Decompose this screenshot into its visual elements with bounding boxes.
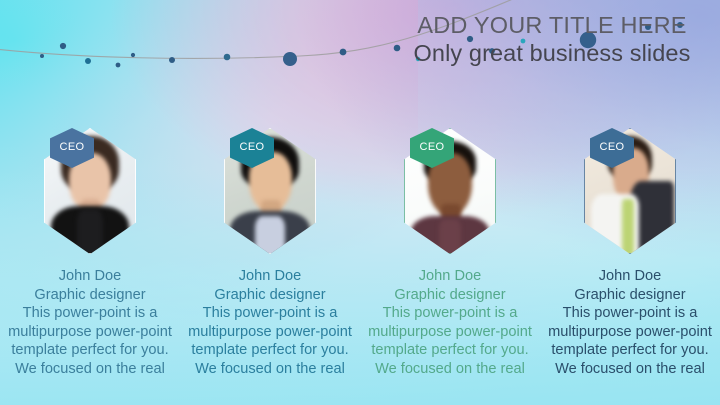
person-text-block: John Doe Graphic designer This power-poi… (541, 267, 719, 379)
badge-label: CEO (239, 142, 264, 153)
role-badge[interactable]: CEO (50, 128, 94, 168)
hexagon-photo-frame: CEO (44, 128, 136, 254)
team-card[interactable]: CEO John Doe Graphic designer This power… (180, 100, 360, 379)
badge-label: CEO (599, 142, 624, 153)
team-card[interactable]: CEO John Doe Graphic designer This power… (0, 100, 180, 379)
person-name: John Doe (541, 267, 719, 286)
role-badge[interactable]: CEO (590, 128, 634, 168)
slide-canvas: ADD YOUR TITLE HERE Only great business … (0, 0, 720, 405)
team-card[interactable]: CEO John Doe Graphic designer This power… (540, 100, 720, 379)
person-description: This power-point is a multipurpose power… (541, 304, 719, 378)
badge-hexagon-shape: CEO (590, 128, 634, 168)
team-card[interactable]: CEO John Doe Graphic designer This power… (360, 100, 540, 379)
hexagon-photo-frame: CEO (584, 128, 676, 254)
badge-label: CEO (59, 142, 84, 153)
person-name: John Doe (1, 267, 179, 286)
hexagon-photo-frame: CEO (224, 128, 316, 254)
person-name: John Doe (361, 267, 539, 286)
person-description: This power-point is a multipurpose power… (361, 304, 539, 378)
person-description: This power-point is a multipurpose power… (1, 304, 179, 378)
person-text-block: John Doe Graphic designer This power-poi… (181, 267, 359, 379)
person-role: Graphic designer (181, 286, 359, 305)
person-description: This power-point is a multipurpose power… (181, 304, 359, 378)
title-block: ADD YOUR TITLE HERE Only great business … (402, 11, 702, 67)
person-role: Graphic designer (541, 286, 719, 305)
person-role: Graphic designer (1, 286, 179, 305)
person-text-block: John Doe Graphic designer This power-poi… (361, 267, 539, 379)
role-badge[interactable]: CEO (410, 128, 454, 168)
badge-hexagon-shape: CEO (410, 128, 454, 168)
person-role: Graphic designer (361, 286, 539, 305)
badge-hexagon-shape: CEO (50, 128, 94, 168)
person-name: John Doe (181, 267, 359, 286)
person-text-block: John Doe Graphic designer This power-poi… (1, 267, 179, 379)
role-badge[interactable]: CEO (230, 128, 274, 168)
badge-label: CEO (419, 142, 444, 153)
slide-title-primary: ADD YOUR TITLE HERE (402, 11, 702, 39)
slide-subtitle: Only great business slides (402, 39, 702, 67)
team-cards-row: CEO John Doe Graphic designer This power… (0, 100, 720, 379)
hexagon-photo-frame: CEO (404, 128, 496, 254)
badge-hexagon-shape: CEO (230, 128, 274, 168)
